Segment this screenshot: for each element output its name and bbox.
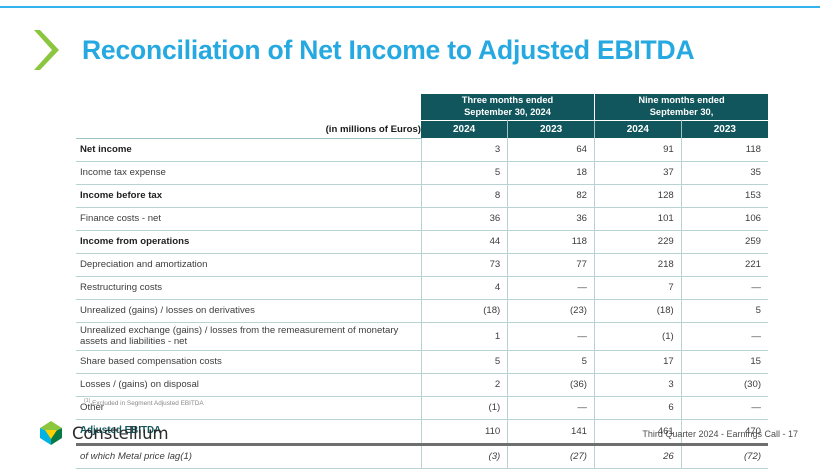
table-body: Net income36491118Income tax expense5183… <box>76 138 768 468</box>
cell-q3-2023: 36 <box>508 207 595 230</box>
table-row: Losses / (gains) on disposal2(36)3(30) <box>76 373 768 396</box>
cell-q3-2023: (27) <box>508 444 595 468</box>
cell-ytd-2024: 7 <box>595 276 682 299</box>
row-label: Net income <box>76 138 421 161</box>
table-row: Unrealized (gains) / losses on derivativ… <box>76 299 768 322</box>
cell-ytd-2023: 35 <box>681 161 768 184</box>
cell-q3-2024: (3) <box>421 444 508 468</box>
row-label: Unrealized exchange (gains) / losses fro… <box>76 322 421 350</box>
cell-q3-2024: 44 <box>421 230 508 253</box>
header-group-three-months-line1: Three months ended <box>462 95 553 105</box>
units-label: (in millions of Euros) <box>76 121 421 139</box>
cell-q3-2023: 141 <box>508 419 595 444</box>
page-title: Reconciliation of Net Income to Adjusted… <box>82 37 694 64</box>
cell-q3-2023: 118 <box>508 230 595 253</box>
header-group-row: Three months ended September 30, 2024 Ni… <box>76 94 768 121</box>
row-label: Losses / (gains) on disposal <box>76 373 421 396</box>
table-row: Income tax expense5183735 <box>76 161 768 184</box>
table-head: Three months ended September 30, 2024 Ni… <box>76 94 768 138</box>
footnote: (1) Excluded in Segment Adjusted EBITDA <box>84 398 204 407</box>
table-row: Unrealized exchange (gains) / losses fro… <box>76 322 768 350</box>
cell-q3-2024: 4 <box>421 276 508 299</box>
cell-q3-2023: 18 <box>508 161 595 184</box>
cell-ytd-2024: 6 <box>595 396 682 419</box>
cell-q3-2023: — <box>508 322 595 350</box>
header-year-q3-2024: 2024 <box>421 121 508 139</box>
constellium-logo-icon <box>38 420 64 446</box>
row-label: Depreciation and amortization <box>76 253 421 276</box>
cell-ytd-2024: 17 <box>595 350 682 373</box>
cell-ytd-2024: (1) <box>595 322 682 350</box>
cell-ytd-2024: 128 <box>595 184 682 207</box>
row-label: Finance costs - net <box>76 207 421 230</box>
cell-ytd-2024: 3 <box>595 373 682 396</box>
table-row: Finance costs - net3636101106 <box>76 207 768 230</box>
header-group-nine-months-line2: September 30, <box>650 107 714 117</box>
footer-logo: Constellium <box>38 420 168 446</box>
brand-name: Constellium <box>72 424 168 443</box>
header-year-q3-2023: 2023 <box>508 121 595 139</box>
cell-q3-2024: 3 <box>421 138 508 161</box>
cell-ytd-2023: 153 <box>681 184 768 207</box>
cell-q3-2023: — <box>508 276 595 299</box>
cell-ytd-2023: — <box>681 276 768 299</box>
cell-q3-2023: 5 <box>508 350 595 373</box>
chevron-right-icon <box>30 28 64 72</box>
cell-q3-2024: 110 <box>421 419 508 444</box>
cell-ytd-2023: (30) <box>681 373 768 396</box>
cell-ytd-2024: 37 <box>595 161 682 184</box>
cell-ytd-2024: 229 <box>595 230 682 253</box>
financial-table-wrap: Three months ended September 30, 2024 Ni… <box>76 94 768 469</box>
slide-title-block: Reconciliation of Net Income to Adjusted… <box>30 28 694 72</box>
header-group-three-months-line2: September 30, 2024 <box>464 107 551 117</box>
header-group-nine-months: Nine months ended September 30, <box>595 94 769 121</box>
row-label: Share based compensation costs <box>76 350 421 373</box>
row-label: Restructuring costs <box>76 276 421 299</box>
cell-ytd-2023: 118 <box>681 138 768 161</box>
cell-ytd-2024: 91 <box>595 138 682 161</box>
cell-q3-2023: 64 <box>508 138 595 161</box>
cell-q3-2024: (18) <box>421 299 508 322</box>
cell-ytd-2024: 26 <box>595 444 682 468</box>
cell-q3-2023: — <box>508 396 595 419</box>
table-row: Net income36491118 <box>76 138 768 161</box>
top-accent-rule <box>0 6 820 8</box>
row-label: Income tax expense <box>76 161 421 184</box>
cell-ytd-2023: 221 <box>681 253 768 276</box>
cell-q3-2023: 82 <box>508 184 595 207</box>
footnote-text: Excluded in Segment Adjusted EBITDA <box>90 400 203 407</box>
cell-q3-2024: 1 <box>421 322 508 350</box>
footer-meta: Third Quarter 2024 - Earnings Call - 17 <box>642 429 798 439</box>
cell-q3-2023: (23) <box>508 299 595 322</box>
cell-ytd-2023: — <box>681 322 768 350</box>
row-label: Income from operations <box>76 230 421 253</box>
cell-ytd-2023: 106 <box>681 207 768 230</box>
cell-ytd-2023: 15 <box>681 350 768 373</box>
cell-q3-2023: 77 <box>508 253 595 276</box>
cell-q3-2024: 8 <box>421 184 508 207</box>
cell-q3-2024: 73 <box>421 253 508 276</box>
cell-ytd-2023: (72) <box>681 444 768 468</box>
table-row: Income from operations44118229259 <box>76 230 768 253</box>
header-group-nine-months-line1: Nine months ended <box>638 95 724 105</box>
table-row: Share based compensation costs551715 <box>76 350 768 373</box>
cell-ytd-2023: — <box>681 396 768 419</box>
table-row: Restructuring costs4—7— <box>76 276 768 299</box>
row-label: Unrealized (gains) / losses on derivativ… <box>76 299 421 322</box>
header-spacer <box>76 94 421 121</box>
cell-q3-2024: 36 <box>421 207 508 230</box>
cell-q3-2024: 2 <box>421 373 508 396</box>
cell-q3-2024: 5 <box>421 161 508 184</box>
cell-q3-2024: 5 <box>421 350 508 373</box>
table-row: of which Metal price lag(1)(3)(27)26(72) <box>76 444 768 468</box>
cell-ytd-2023: 259 <box>681 230 768 253</box>
table-row: Income before tax882128153 <box>76 184 768 207</box>
row-label: of which Metal price lag(1) <box>76 444 421 468</box>
header-year-ytd-2024: 2024 <box>595 121 682 139</box>
row-label: Income before tax <box>76 184 421 207</box>
cell-ytd-2024: 101 <box>595 207 682 230</box>
header-year-row: (in millions of Euros) 2024 2023 2024 20… <box>76 121 768 139</box>
table-row: Depreciation and amortization7377218221 <box>76 253 768 276</box>
cell-q3-2023: (36) <box>508 373 595 396</box>
cell-ytd-2023: 5 <box>681 299 768 322</box>
cell-ytd-2024: 218 <box>595 253 682 276</box>
slide: Reconciliation of Net Income to Adjusted… <box>0 0 820 461</box>
header-year-ytd-2023: 2023 <box>681 121 768 139</box>
header-group-three-months: Three months ended September 30, 2024 <box>421 94 595 121</box>
cell-ytd-2024: (18) <box>595 299 682 322</box>
cell-q3-2024: (1) <box>421 396 508 419</box>
reconciliation-table: Three months ended September 30, 2024 Ni… <box>76 94 768 469</box>
